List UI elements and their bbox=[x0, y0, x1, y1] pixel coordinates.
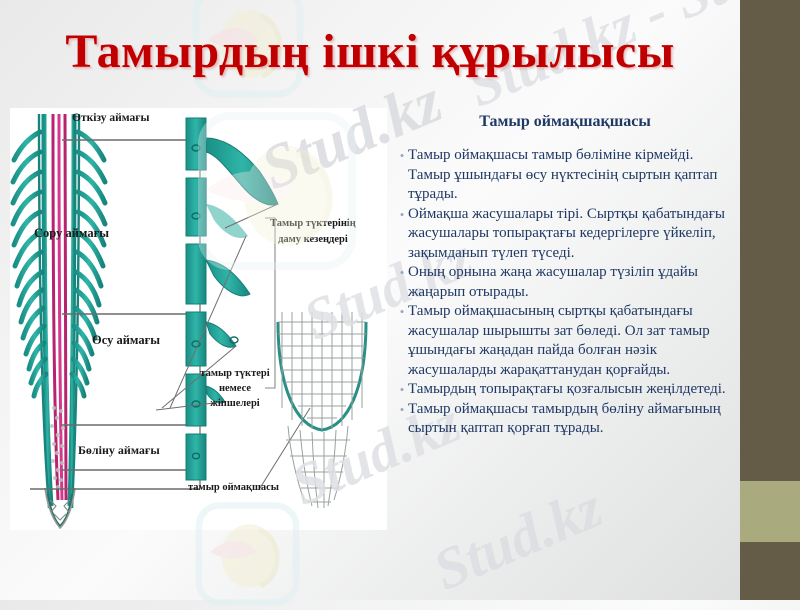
label-root-hairs-line3: жіпшелері bbox=[192, 396, 278, 411]
list-item: • Тамыр оймақшасы тамырдың бөліну аймағы… bbox=[396, 400, 736, 439]
bullet-icon: • bbox=[396, 146, 408, 166]
sidebar-accent-band bbox=[740, 481, 800, 542]
list-item-text: Тамырдың топырақтағы қозғалысын жеңілдет… bbox=[408, 380, 726, 400]
list-item-text: Оймақша жасушалары тірі. Сыртқы қабатынд… bbox=[408, 205, 736, 264]
label-absorption-zone: Сору аймағы bbox=[34, 226, 109, 241]
label-growth-zone: Өсу аймағы bbox=[92, 333, 160, 348]
label-conducting-zone: Өткізу аймағы bbox=[72, 112, 150, 124]
watermark-text: Stud.kz bbox=[424, 473, 612, 603]
list-item-text: Тамыр оймақшасы тамыр бөліміне кірмейді.… bbox=[408, 146, 736, 205]
root-hair-development-column bbox=[186, 116, 278, 480]
label-root-hair-stages: Тамыр түктерінің даму кезеңдері bbox=[270, 216, 356, 248]
bullet-icon: • bbox=[396, 400, 408, 420]
list-item: • Тамырдың топырақтағы қозғалысын жеңілд… bbox=[396, 380, 736, 400]
label-root-hair-stages-line1: Тамыр түктерінің bbox=[270, 216, 356, 232]
root-longitudinal-section bbox=[13, 114, 105, 528]
label-root-hairs: тамыр түктері немесе жіпшелері bbox=[192, 366, 278, 411]
label-division-zone: Бөліну аймағы bbox=[78, 443, 160, 458]
diagram-panel: Өткізу аймағы Сору аймағы Өсу аймағы Бөл… bbox=[10, 108, 387, 530]
root-tip-cell-structure bbox=[278, 312, 366, 508]
list-item: • Оймақша жасушалары тірі. Сыртқы қабаты… bbox=[396, 205, 736, 264]
list-item-text: Тамыр оймақшасының сыртқы қабатындағы жа… bbox=[408, 302, 736, 380]
bullet-icon: • bbox=[396, 263, 408, 283]
label-root-hairs-line1: тамыр түктері bbox=[192, 366, 278, 381]
bullet-icon: • bbox=[396, 205, 408, 225]
label-root-hairs-line2: немесе bbox=[192, 381, 278, 396]
sidebar-decoration bbox=[740, 0, 800, 600]
bullet-icon: • bbox=[396, 380, 408, 400]
section-heading: Тамыр оймақшақшасы bbox=[400, 113, 730, 131]
list-item: • Тамыр оймақшасының сыртқы қабатындағы … bbox=[396, 302, 736, 380]
list-item-text: Оның орнына жаңа жасушалар түзіліп ұдайы… bbox=[408, 263, 736, 302]
label-root-hair-stages-line2: даму кезеңдері bbox=[270, 232, 356, 248]
slide: Stud.kz - Stud.kz Тамырдың ішкі құрылысы bbox=[0, 0, 800, 600]
list-item: • Оның орнына жаңа жасушалар түзіліп ұда… bbox=[396, 263, 736, 302]
page-title: Тамырдың ішкі құрылысы bbox=[0, 24, 740, 79]
label-root-cap: тамыр оймақшасы bbox=[188, 482, 279, 493]
list-item: • Тамыр оймақшасы тамыр бөліміне кірмейд… bbox=[396, 146, 736, 205]
root-anatomy-diagram bbox=[10, 108, 387, 530]
bullet-icon: • bbox=[396, 302, 408, 322]
list-item-text: Тамыр оймақшасы тамырдың бөліну аймағыны… bbox=[408, 400, 736, 439]
bullet-list: • Тамыр оймақшасы тамыр бөліміне кірмейд… bbox=[396, 146, 736, 439]
